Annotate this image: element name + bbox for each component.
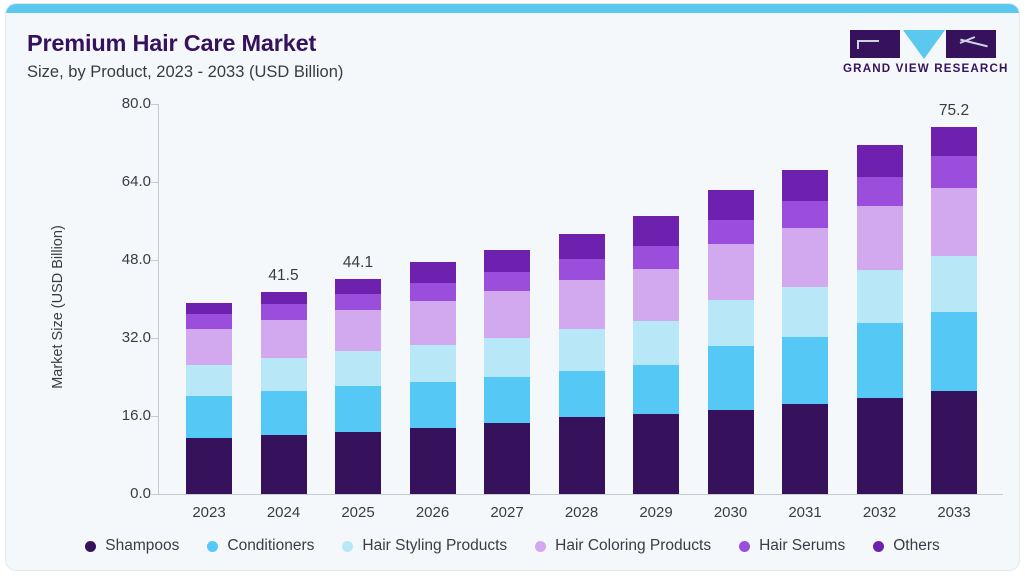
legend-swatch-icon <box>873 541 884 552</box>
bar-segment[interactable] <box>782 170 828 201</box>
bar-segment[interactable] <box>186 314 232 329</box>
legend-label: Conditioners <box>227 537 314 555</box>
bar-segment[interactable] <box>410 345 456 382</box>
legend-item-shampoos[interactable]: Shampoos <box>85 537 179 555</box>
bar-segment[interactable] <box>931 256 977 313</box>
legend-item-hair-styling-products[interactable]: Hair Styling Products <box>342 537 507 555</box>
bar-segment[interactable] <box>857 177 903 206</box>
bar-segment[interactable] <box>335 432 381 494</box>
bar-segment[interactable] <box>484 291 530 337</box>
y-tick: 48.0 <box>79 260 151 261</box>
bar-segment[interactable] <box>708 410 754 494</box>
bar-segment[interactable] <box>261 304 307 320</box>
legend-swatch-icon <box>535 541 546 552</box>
y-tick-label: 64.0 <box>89 173 151 190</box>
y-axis-line <box>158 104 159 494</box>
legend-label: Hair Coloring Products <box>555 537 711 555</box>
bar-total-label: 75.2 <box>914 102 994 120</box>
bar-segment[interactable] <box>559 371 605 418</box>
bar-stack[interactable] <box>410 262 456 495</box>
bar-segment[interactable] <box>857 398 903 494</box>
bar-segment[interactable] <box>335 294 381 311</box>
bar-segment[interactable] <box>484 338 530 377</box>
bar-segment[interactable] <box>931 391 977 494</box>
bar-segment[interactable] <box>931 312 977 391</box>
y-tick-label: 0.0 <box>89 485 151 502</box>
y-tick-mark <box>151 182 158 183</box>
y-tick: 0.0 <box>79 494 151 495</box>
chart-card: Premium Hair Care Market Size, by Produc… <box>6 4 1019 570</box>
y-tick-mark <box>151 104 158 105</box>
bar-stack[interactable] <box>931 127 977 494</box>
bar-segment[interactable] <box>484 250 530 271</box>
x-tick-label: 2030 <box>691 504 771 521</box>
legend-swatch-icon <box>85 541 96 552</box>
bar-segment[interactable] <box>484 377 530 423</box>
y-tick: 80.0 <box>79 104 151 105</box>
bar-segment[interactable] <box>633 246 679 269</box>
legend-swatch-icon <box>207 541 218 552</box>
bar-segment[interactable] <box>410 262 456 284</box>
bar-segment[interactable] <box>633 365 679 413</box>
bar-segment[interactable] <box>559 259 605 280</box>
bar-segment[interactable] <box>261 320 307 359</box>
y-tick: 16.0 <box>79 416 151 417</box>
bar-segment[interactable] <box>484 272 530 292</box>
bar-segment[interactable] <box>559 329 605 370</box>
legend-label: Hair Styling Products <box>362 537 507 555</box>
bar-total-label: 44.1 <box>318 254 398 272</box>
bar-segment[interactable] <box>708 300 754 346</box>
x-axis-line <box>158 494 1003 495</box>
bar-segment[interactable] <box>782 337 828 404</box>
bar-segment[interactable] <box>410 301 456 344</box>
bar-segment[interactable] <box>186 329 232 365</box>
x-tick-label: 2023 <box>169 504 249 521</box>
bar-segment[interactable] <box>708 220 754 244</box>
x-tick-label: 2029 <box>616 504 696 521</box>
chart-legend: ShampoosConditionersHair Styling Product… <box>6 537 1019 555</box>
y-axis-title: Market Size (USD Billion) <box>50 192 66 422</box>
bar-segment[interactable] <box>335 351 381 386</box>
bar-stack[interactable] <box>857 145 903 494</box>
y-tick: 32.0 <box>79 338 151 339</box>
bar-stack[interactable] <box>708 190 754 494</box>
legend-swatch-icon <box>342 541 353 552</box>
x-tick-label: 2033 <box>914 504 994 521</box>
bar-segment[interactable] <box>782 287 828 336</box>
legend-label: Hair Serums <box>759 537 845 555</box>
y-tick-label: 48.0 <box>89 251 151 268</box>
bar-segment[interactable] <box>261 358 307 391</box>
bar-segment[interactable] <box>261 292 307 304</box>
legend-label: Others <box>893 537 940 555</box>
x-tick-label: 2032 <box>840 504 920 521</box>
bar-segment[interactable] <box>186 303 232 314</box>
x-tick-label: 2025 <box>318 504 398 521</box>
bar-segment[interactable] <box>559 234 605 259</box>
bar-segment[interactable] <box>410 283 456 301</box>
bar-stack[interactable] <box>484 250 530 494</box>
bar-segment[interactable] <box>782 228 828 287</box>
bar-segment[interactable] <box>931 156 977 188</box>
x-tick-label: 2027 <box>467 504 547 521</box>
bar-segment[interactable] <box>186 365 232 396</box>
bar-segment[interactable] <box>633 269 679 321</box>
bar-segment[interactable] <box>708 346 754 410</box>
bar-segment[interactable] <box>559 280 605 329</box>
bar-segment[interactable] <box>708 244 754 300</box>
bar-total-label: 41.5 <box>244 267 324 285</box>
bar-stack[interactable] <box>782 170 828 494</box>
legend-swatch-icon <box>739 541 750 552</box>
bar-stack[interactable] <box>186 303 232 494</box>
bar-stack[interactable] <box>559 234 605 494</box>
bar-segment[interactable] <box>857 206 903 269</box>
bar-segment[interactable] <box>857 270 903 324</box>
y-tick-label: 80.0 <box>89 95 151 112</box>
bar-segment[interactable] <box>633 216 679 246</box>
bar-segment[interactable] <box>931 188 977 256</box>
bar-segment[interactable] <box>186 438 232 494</box>
bar-segment[interactable] <box>335 310 381 351</box>
stacked-bar-chart: Market Size (USD Billion) 0.016.032.048.… <box>6 4 1019 570</box>
y-tick-mark <box>151 494 158 495</box>
bar-segment[interactable] <box>782 404 828 494</box>
bar-segment[interactable] <box>261 391 307 435</box>
bar-segment[interactable] <box>335 386 381 431</box>
legend-label: Shampoos <box>105 537 179 555</box>
y-tick-mark <box>151 338 158 339</box>
legend-item-conditioners[interactable]: Conditioners <box>207 537 314 555</box>
x-tick-label: 2026 <box>393 504 473 521</box>
bar-stack[interactable] <box>633 216 679 494</box>
bar-segment[interactable] <box>857 323 903 398</box>
legend-item-hair-coloring-products[interactable]: Hair Coloring Products <box>535 537 711 555</box>
y-tick-mark <box>151 416 158 417</box>
legend-item-hair-serums[interactable]: Hair Serums <box>739 537 845 555</box>
bar-segment[interactable] <box>484 423 530 494</box>
x-tick-label: 2031 <box>765 504 845 521</box>
bar-segment[interactable] <box>186 396 232 438</box>
x-tick-label: 2024 <box>244 504 324 521</box>
y-tick-label: 16.0 <box>89 407 151 424</box>
bar-segment[interactable] <box>410 382 456 428</box>
bar-stack[interactable] <box>261 292 307 494</box>
bar-segment[interactable] <box>633 414 679 494</box>
bar-segment[interactable] <box>410 428 456 494</box>
bar-segment[interactable] <box>782 201 828 228</box>
bar-segment[interactable] <box>857 145 903 177</box>
bar-segment[interactable] <box>708 190 754 220</box>
y-tick: 64.0 <box>79 182 151 183</box>
bar-segment[interactable] <box>633 321 679 365</box>
bar-stack[interactable] <box>335 279 381 494</box>
y-tick-mark <box>151 260 158 261</box>
y-tick-label: 32.0 <box>89 329 151 346</box>
bar-segment[interactable] <box>335 279 381 294</box>
bar-segment[interactable] <box>931 127 977 155</box>
x-tick-label: 2028 <box>542 504 622 521</box>
bar-segment[interactable] <box>559 417 605 494</box>
bar-segment[interactable] <box>261 435 307 494</box>
legend-item-others[interactable]: Others <box>873 537 940 555</box>
